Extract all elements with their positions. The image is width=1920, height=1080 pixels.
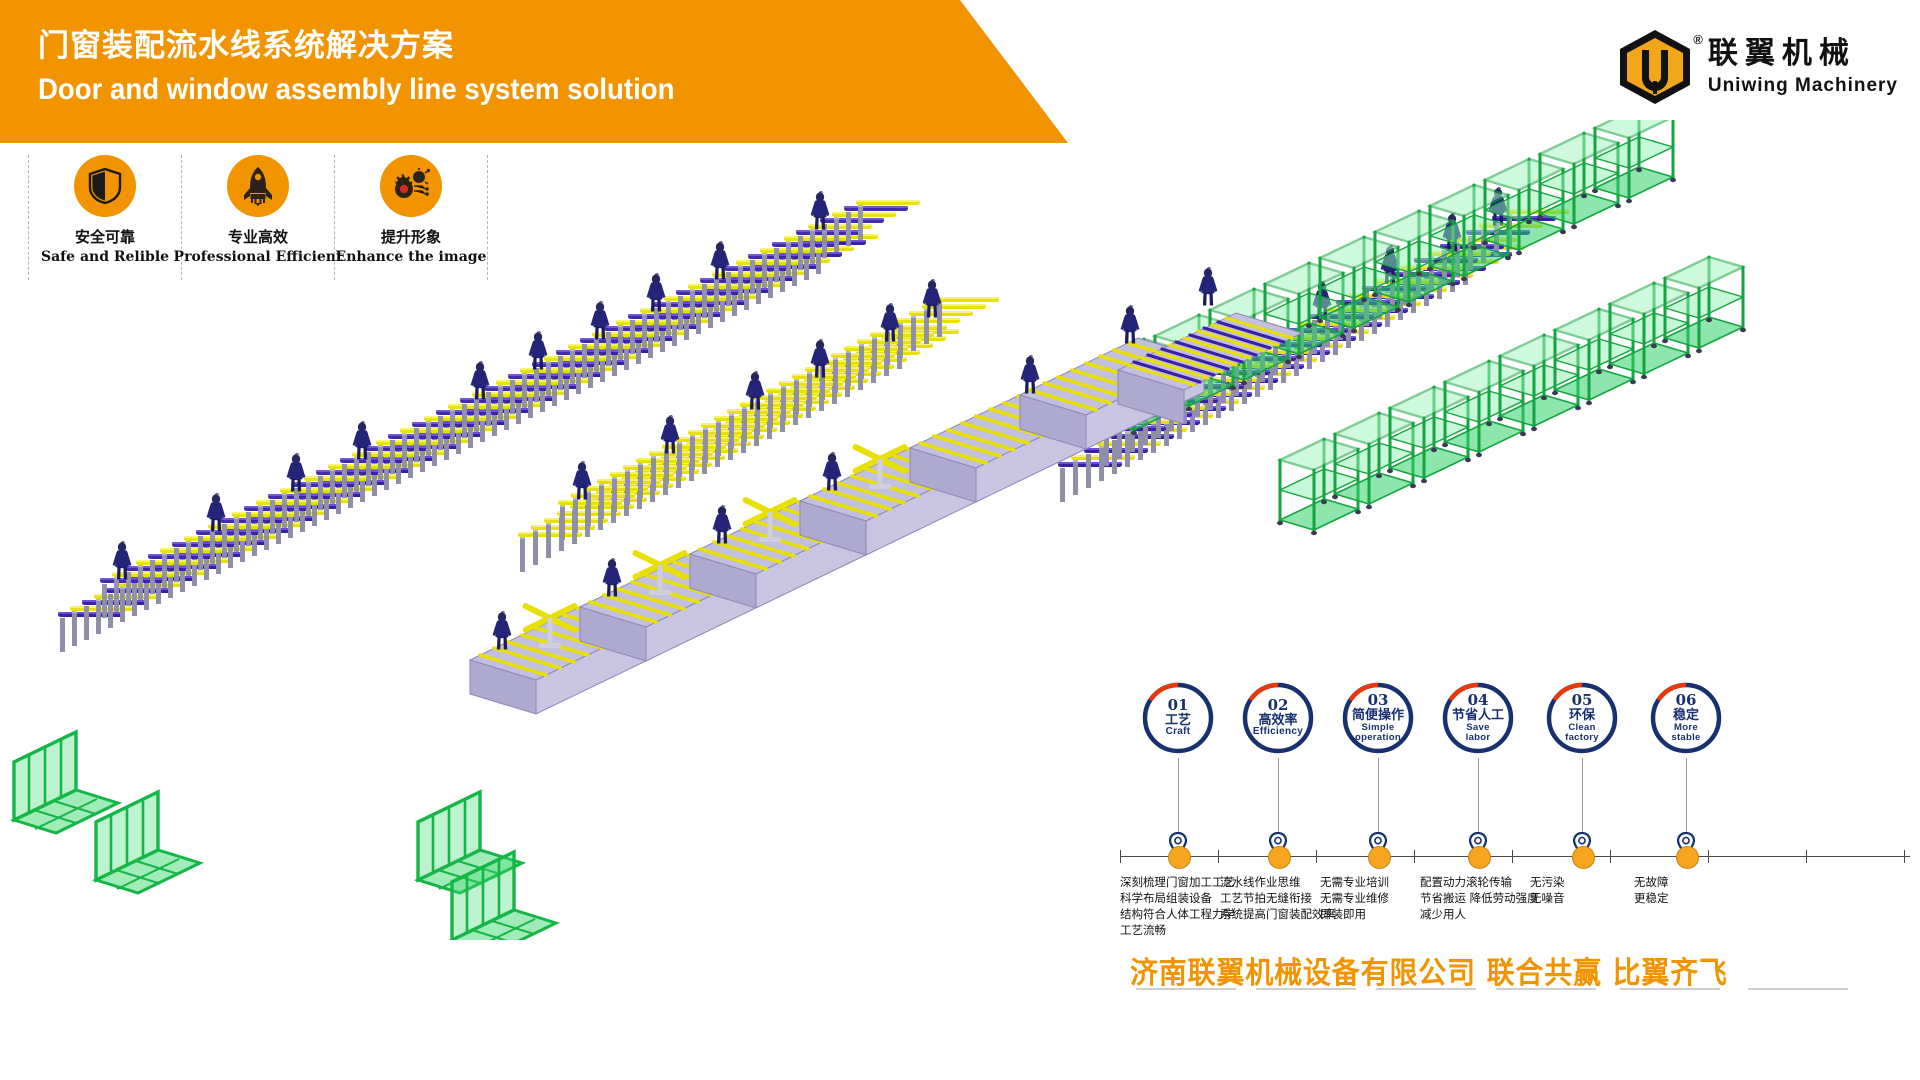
desc-line: 无需专业维修 bbox=[1320, 890, 1389, 906]
slogan-text: 济南联翼机械设备有限公司 联合共赢 比翼齐飞 bbox=[1130, 948, 1865, 992]
timeline-label-cn: 节省人工 bbox=[1452, 709, 1504, 723]
timeline-label-cn: 高效率 bbox=[1258, 714, 1297, 728]
header-text-block: 门窗装配流水线系统解决方案 Door and window assembly l… bbox=[38, 26, 730, 110]
logo-name-cn: 联翼机械 bbox=[1708, 37, 1898, 71]
slogan-rule bbox=[1620, 988, 1720, 990]
timeline-circle-text: 01 工艺 Craft bbox=[1140, 680, 1216, 756]
timeline-label-en-2: factory bbox=[1565, 733, 1599, 743]
timeline-circle-text: 02 高效率 Efficiency bbox=[1240, 680, 1316, 756]
timeline-desc-03: 无需专业培训 无需专业维修 即装即用 bbox=[1320, 874, 1389, 922]
slogan-rule bbox=[1376, 988, 1476, 990]
timeline-tick bbox=[1806, 850, 1807, 863]
timeline-circle-text: 05 环保 Clean factory bbox=[1544, 680, 1620, 756]
timeline-tick bbox=[1610, 850, 1611, 863]
benefits-timeline: 01 工艺 Craft 深刻梳理门窗加工工艺 科学布局组装设备 结构符合人体工程… bbox=[1120, 680, 1910, 950]
timeline-number: 02 bbox=[1268, 698, 1289, 714]
timeline-label-en-2: stable bbox=[1671, 733, 1700, 743]
timeline-circle-03[interactable]: 03 简便操作 Simple operation bbox=[1340, 680, 1416, 756]
timeline-tick bbox=[1414, 850, 1415, 863]
timeline-label-cn: 环保 bbox=[1569, 709, 1595, 723]
timeline-label-en: Craft bbox=[1166, 727, 1191, 738]
desc-line: 结构符合人体工程力学 bbox=[1120, 906, 1235, 922]
timeline-stem bbox=[1686, 758, 1687, 840]
timeline-stem bbox=[1478, 758, 1479, 840]
desc-line: 无故障 bbox=[1634, 874, 1669, 890]
desc-line: 无需专业培训 bbox=[1320, 874, 1389, 890]
timeline-dot bbox=[1468, 846, 1491, 869]
timeline-dot bbox=[1168, 846, 1191, 869]
desc-line: 流水线作业思维 bbox=[1220, 874, 1335, 890]
timeline-circle-05[interactable]: 05 环保 Clean factory bbox=[1544, 680, 1620, 756]
page-title-cn: 门窗装配流水线系统解决方案 bbox=[38, 26, 730, 66]
timeline-dot bbox=[1268, 846, 1291, 869]
company-slogan: 济南联翼机械设备有限公司 联合共赢 比翼齐飞 bbox=[1130, 948, 1920, 1008]
timeline-label-en-2: operation bbox=[1355, 733, 1401, 743]
timeline-desc-06: 无故障 更稳定 bbox=[1634, 874, 1669, 906]
poster-root: 门窗装配流水线系统解决方案 Door and window assembly l… bbox=[0, 0, 1920, 1080]
timeline-circle-06[interactable]: 06 稳定 More stable bbox=[1648, 680, 1724, 756]
desc-line: 工艺节拍无缝衔接 bbox=[1220, 890, 1335, 906]
timeline-number: 06 bbox=[1676, 693, 1697, 709]
slogan-rule bbox=[1496, 988, 1596, 990]
slogan-rule bbox=[1136, 988, 1236, 990]
timeline-stem bbox=[1178, 758, 1179, 840]
timeline-tick bbox=[1218, 850, 1219, 863]
desc-line: 深刻梳理门窗加工工艺 bbox=[1120, 874, 1235, 890]
timeline-circle-01[interactable]: 01 工艺 Craft bbox=[1140, 680, 1216, 756]
timeline-number: 05 bbox=[1572, 693, 1593, 709]
timeline-stem bbox=[1582, 758, 1583, 840]
page-title-en: Door and window assembly line system sol… bbox=[38, 70, 674, 110]
desc-line: 减少用人 bbox=[1420, 906, 1539, 922]
timeline-label-cn: 稳定 bbox=[1673, 709, 1699, 723]
brand-logo: ® 联翼机械 Uniwing Machinery bbox=[1616, 28, 1898, 106]
desc-line: 系统提高门窗装配效率 bbox=[1220, 906, 1335, 922]
timeline-label-en: Efficiency bbox=[1253, 727, 1303, 738]
timeline-axis bbox=[1120, 856, 1910, 857]
timeline-tick bbox=[1708, 850, 1709, 863]
timeline-tick bbox=[1904, 850, 1905, 863]
desc-line: 科学布局组装设备 bbox=[1120, 890, 1235, 906]
timeline-desc-01: 深刻梳理门窗加工工艺 科学布局组装设备 结构符合人体工程力学 工艺流畅 bbox=[1120, 874, 1235, 938]
timeline-number: 01 bbox=[1168, 698, 1189, 714]
timeline-stem bbox=[1378, 758, 1379, 840]
timeline-dot bbox=[1368, 846, 1391, 869]
timeline-tick bbox=[1316, 850, 1317, 863]
timeline-label-cn: 简便操作 bbox=[1352, 709, 1404, 723]
slogan-rule bbox=[1748, 988, 1848, 990]
timeline-circle-02[interactable]: 02 高效率 Efficiency bbox=[1240, 680, 1316, 756]
timeline-stem bbox=[1278, 758, 1279, 840]
timeline-number: 03 bbox=[1368, 693, 1389, 709]
hexagon-u-logo-icon: ® bbox=[1616, 28, 1694, 106]
logo-wordmark: 联翼机械 Uniwing Machinery bbox=[1708, 37, 1898, 98]
desc-line: 配置动力滚轮传输 bbox=[1420, 874, 1539, 890]
timeline-circle-text: 04 节省人工 Save labor bbox=[1440, 680, 1516, 756]
desc-line: 即装即用 bbox=[1320, 906, 1389, 922]
timeline-desc-05: 无污染 无噪音 bbox=[1530, 874, 1565, 906]
desc-line: 工艺流畅 bbox=[1120, 922, 1235, 938]
timeline-number: 04 bbox=[1468, 693, 1489, 709]
timeline-tick bbox=[1512, 850, 1513, 863]
registered-trademark-icon: ® bbox=[1693, 32, 1703, 47]
timeline-circle-text: 03 简便操作 Simple operation bbox=[1340, 680, 1416, 756]
timeline-label-en-2: labor bbox=[1466, 733, 1491, 743]
timeline-desc-02: 流水线作业思维 工艺节拍无缝衔接 系统提高门窗装配效率 bbox=[1220, 874, 1335, 922]
desc-line: 节省搬运 降低劳动强度 bbox=[1420, 890, 1539, 906]
slogan-rule bbox=[1256, 988, 1356, 990]
timeline-circle-04[interactable]: 04 节省人工 Save labor bbox=[1440, 680, 1516, 756]
timeline-circle-text: 06 稳定 More stable bbox=[1648, 680, 1724, 756]
desc-line: 无噪音 bbox=[1530, 890, 1565, 906]
timeline-dot bbox=[1676, 846, 1699, 869]
timeline-dot bbox=[1572, 846, 1595, 869]
timeline-desc-04: 配置动力滚轮传输 节省搬运 降低劳动强度 减少用人 bbox=[1420, 874, 1539, 922]
desc-line: 无污染 bbox=[1530, 874, 1565, 890]
desc-line: 更稳定 bbox=[1634, 890, 1669, 906]
timeline-tick bbox=[1120, 850, 1121, 863]
timeline-label-cn: 工艺 bbox=[1165, 714, 1191, 728]
logo-name-en: Uniwing Machinery bbox=[1708, 74, 1898, 98]
